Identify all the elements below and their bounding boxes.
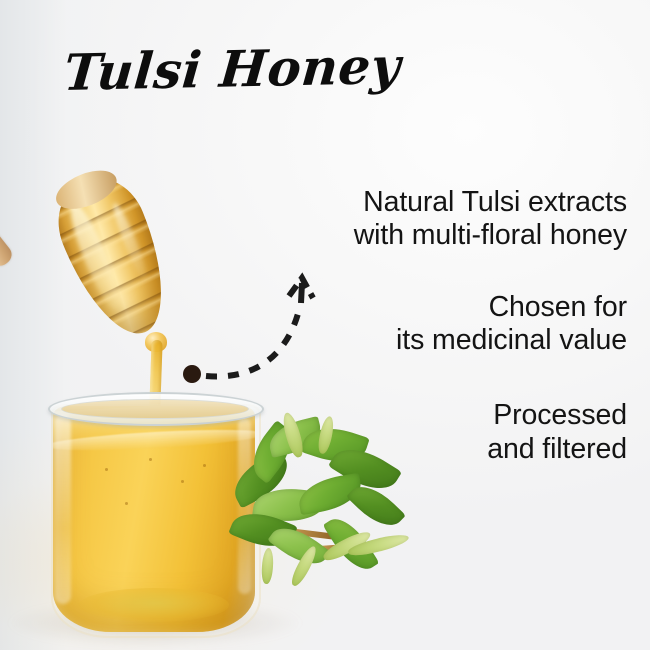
feature-line: Chosen for xyxy=(247,291,627,324)
bullet-dot-icon xyxy=(183,365,201,383)
jar-highlight-left xyxy=(55,414,71,604)
jar-honey-fill xyxy=(53,406,255,632)
page-title: Tulsi Honey xyxy=(62,41,403,98)
honey-speck xyxy=(203,464,206,467)
dipper-head xyxy=(45,168,185,349)
feature-line: Natural Tulsi extracts xyxy=(247,186,627,219)
feature-line: its medicinal value xyxy=(247,324,627,357)
dipper-handle xyxy=(0,49,16,270)
honey-jar-icon xyxy=(48,392,260,635)
feature-line: and filtered xyxy=(247,433,627,466)
honey-speck xyxy=(125,502,128,505)
poster-canvas: Tulsi Honey Natural Tulsi extracts with … xyxy=(0,0,650,650)
feature-line: Processed xyxy=(247,399,627,432)
tulsi-flower-spike xyxy=(261,548,274,585)
jar-rim-inner xyxy=(61,399,249,419)
honey-speck xyxy=(105,468,108,471)
feature-medicinal-value: Chosen for its medicinal value xyxy=(247,291,627,358)
honey-speck xyxy=(149,458,152,461)
feature-processed-filtered: Processed and filtered xyxy=(247,399,627,466)
feature-line: with multi-floral honey xyxy=(247,219,627,252)
feature-list: Natural Tulsi extracts with multi-floral… xyxy=(247,186,627,466)
jar-bottom-pool xyxy=(79,588,229,622)
honey-speck xyxy=(181,480,184,483)
feature-natural-extracts: Natural Tulsi extracts with multi-floral… xyxy=(247,186,627,253)
